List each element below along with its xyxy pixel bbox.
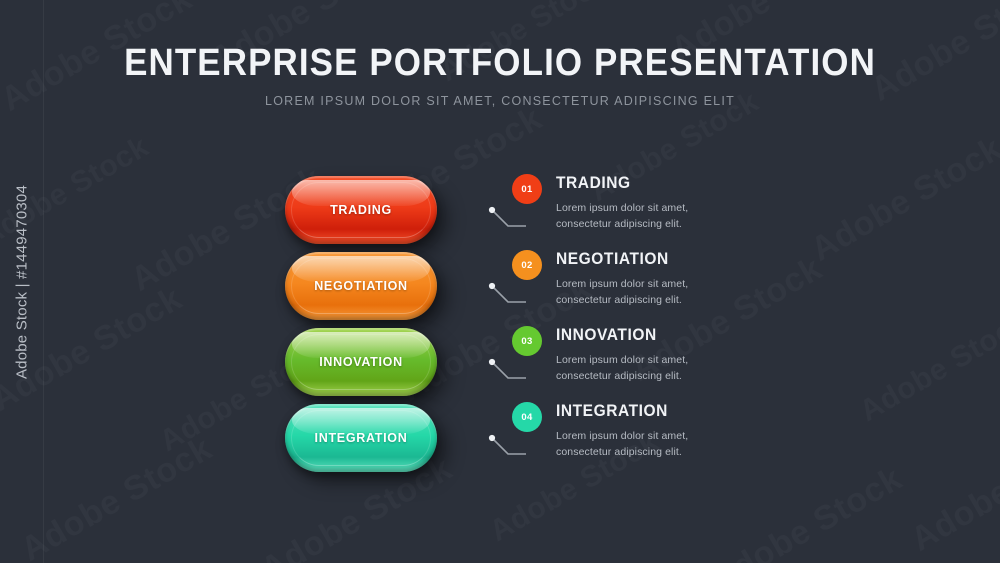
item-description: Lorem ipsum dolor sit amet, consectetur … [556, 277, 731, 309]
connector-line-icon [486, 282, 534, 310]
item-title: INNOVATION [556, 326, 657, 345]
list-item[interactable]: 01TRADINGLorem ipsum dolor sit amet, con… [486, 170, 956, 246]
connector-line-icon [486, 358, 534, 386]
pill-label: NEGOTIATION [285, 252, 437, 320]
item-title: TRADING [556, 174, 631, 193]
slide-header: ENTERPRISE PORTFOLIO PRESENTATION Lorem … [0, 44, 1000, 108]
pill-negotiation[interactable]: NEGOTIATION [285, 252, 437, 320]
list-item[interactable]: 03INNOVATIONLorem ipsum dolor sit amet, … [486, 322, 956, 398]
item-number-badge: 03 [512, 326, 542, 356]
item-title: NEGOTIATION [556, 250, 669, 269]
item-list: 01TRADINGLorem ipsum dolor sit amet, con… [486, 170, 956, 474]
pill-body[interactable]: INTEGRATION [285, 404, 437, 472]
list-item[interactable]: 04INTEGRATIONLorem ipsum dolor sit amet,… [486, 398, 956, 474]
pill-innovation[interactable]: INNOVATION [285, 328, 437, 396]
watermark-text: Adobe Stock [705, 459, 909, 563]
item-number-badge: 01 [512, 174, 542, 204]
pill-body[interactable]: INNOVATION [285, 328, 437, 396]
pill-body[interactable]: NEGOTIATION [285, 252, 437, 320]
slide-canvas: Adobe StockAdobe StockAdobe StockAdobe S… [0, 0, 1000, 563]
item-title: INTEGRATION [556, 402, 668, 421]
item-description: Lorem ipsum dolor sit amet, consectetur … [556, 429, 731, 461]
pill-integration[interactable]: INTEGRATION [285, 404, 437, 472]
pill-label: INTEGRATION [285, 404, 437, 472]
item-number-badge: 04 [512, 402, 542, 432]
connector-line-icon [486, 434, 534, 462]
pill-stack: TRADINGNEGOTIATIONINNOVATIONINTEGRATION [285, 176, 445, 480]
pill-body[interactable]: TRADING [285, 176, 437, 244]
watermark-text: Adobe Stock [15, 429, 219, 563]
item-number-badge: 02 [512, 250, 542, 280]
connector-line-icon [486, 206, 534, 234]
pill-label: INNOVATION [285, 328, 437, 396]
pill-trading[interactable]: TRADING [285, 176, 437, 244]
pill-label: TRADING [285, 176, 437, 244]
item-description: Lorem ipsum dolor sit amet, consectetur … [556, 353, 731, 385]
stock-credit-label: Adobe Stock | #1449470304 [13, 184, 30, 378]
page-title: ENTERPRISE PORTFOLIO PRESENTATION [40, 44, 960, 82]
page-subtitle: Lorem ipsum dolor sit amet, consectetur … [0, 94, 1000, 108]
item-description: Lorem ipsum dolor sit amet, consectetur … [556, 201, 731, 233]
list-item[interactable]: 02NEGOTIATIONLorem ipsum dolor sit amet,… [486, 246, 956, 322]
